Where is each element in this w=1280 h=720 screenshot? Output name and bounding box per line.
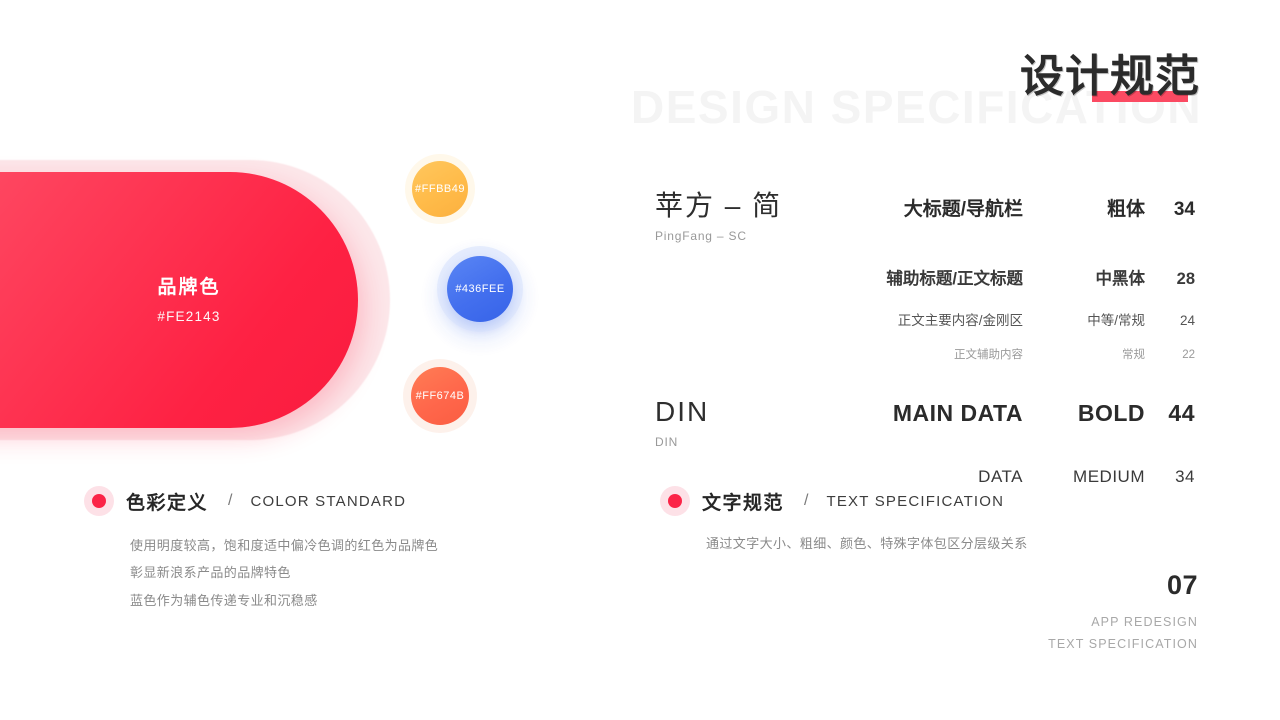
slide-canvas: DESIGN SPECIFICATION 设计规范 品牌色 #FE2143 #F… <box>0 0 1280 720</box>
type-usage: 正文辅助内容 <box>865 346 1049 362</box>
section-title-cn: 色彩定义 <box>126 488 208 515</box>
type-row: DIN DIN MAIN DATA BOLD 44 <box>655 396 1195 449</box>
section-separator: / <box>228 492 232 510</box>
bullet-dot-icon <box>84 486 114 516</box>
type-usage: MAIN DATA <box>865 400 1049 427</box>
swatch-blue: #436FEE <box>447 256 513 322</box>
brand-pill-label: 品牌色 <box>157 276 220 301</box>
body-line: 蓝色作为辅色传递专业和沉稳感 <box>130 587 554 614</box>
section-heading: 文字规范 / TEXT SPECIFICATION <box>660 486 1130 516</box>
font-family-subname: DIN <box>655 435 865 449</box>
section-text-specification: 文字规范 / TEXT SPECIFICATION 通过文字大小、粗细、颜色、特… <box>660 486 1130 557</box>
section-title-en: TEXT SPECIFICATION <box>826 493 1004 510</box>
section-body: 通过文字大小、粗细、颜色、特殊字体包区分层级关系 <box>660 530 1130 557</box>
footer-caption: APP REDESIGN TEXT SPECIFICATION <box>1048 612 1198 656</box>
page-number: 07 <box>1048 572 1198 599</box>
type-size: 44 <box>1145 400 1195 427</box>
type-weight: 中等/常规 <box>1049 309 1145 329</box>
type-weight: 中黑体 <box>1049 265 1145 289</box>
section-color-standard: 色彩定义 / COLOR STANDARD 使用明度较高，饱和度适中偏冷色调的红… <box>84 486 554 614</box>
section-title-en: COLOR STANDARD <box>250 493 406 510</box>
type-row: 苹方 – 简 PingFang – SC 大标题/导航栏 粗体 34 <box>655 190 1195 243</box>
body-line: 通过文字大小、粗细、颜色、特殊字体包区分层级关系 <box>706 530 1130 557</box>
type-row: DATA MEDIUM 34 <box>655 467 1195 487</box>
brand-pill-hex: #FE2143 <box>157 309 220 324</box>
bullet-inner-dot <box>668 494 682 508</box>
swatch-yellow: #FFBB49 <box>412 161 468 217</box>
font-family-block: 苹方 – 简 PingFang – SC <box>655 190 865 243</box>
type-size: 28 <box>1145 270 1195 289</box>
section-body: 使用明度较高，饱和度适中偏冷色调的红色为品牌色 彰显新浪系产品的品牌特色 蓝色作… <box>84 532 554 614</box>
type-row: 辅助标题/正文标题 中黑体 28 <box>655 265 1195 289</box>
bullet-inner-dot <box>92 494 106 508</box>
type-usage: 辅助标题/正文标题 <box>865 265 1049 289</box>
type-usage: 大标题/导航栏 <box>865 194 1049 221</box>
section-separator: / <box>804 492 808 510</box>
type-size: 24 <box>1145 313 1195 328</box>
font-family-subname: PingFang – SC <box>655 229 865 243</box>
footer-line-2: TEXT SPECIFICATION <box>1048 634 1198 656</box>
section-heading: 色彩定义 / COLOR STANDARD <box>84 486 554 516</box>
type-size: 34 <box>1145 467 1195 487</box>
font-family-name: 苹方 – 简 <box>655 190 865 222</box>
font-family-name: DIN <box>655 396 865 428</box>
body-line: 彰显新浪系产品的品牌特色 <box>130 559 554 586</box>
brand-color-pill: 品牌色 #FE2143 <box>0 172 358 428</box>
type-weight: 粗体 <box>1049 194 1145 221</box>
body-line: 使用明度较高，饱和度适中偏冷色调的红色为品牌色 <box>130 532 554 559</box>
font-family-block: DIN DIN <box>655 396 865 449</box>
type-size: 22 <box>1145 349 1195 361</box>
type-size: 34 <box>1145 199 1195 221</box>
page-title-text: 设计规范 <box>1020 53 1200 101</box>
slide-footer: 07 APP REDESIGN TEXT SPECIFICATION <box>1048 572 1198 656</box>
type-weight: MEDIUM <box>1049 467 1145 487</box>
type-weight: BOLD <box>1049 400 1145 427</box>
type-usage: 正文主要内容/金刚区 <box>865 309 1049 329</box>
type-usage: DATA <box>865 467 1049 487</box>
page-title: 设计规范 <box>1020 53 1200 109</box>
footer-line-1: APP REDESIGN <box>1048 612 1198 634</box>
type-weight: 常规 <box>1049 346 1145 362</box>
swatch-orange: #FF674B <box>411 367 469 425</box>
type-row: 正文辅助内容 常规 22 <box>655 346 1195 362</box>
bullet-dot-icon <box>660 486 690 516</box>
type-row: 正文主要内容/金刚区 中等/常规 24 <box>655 309 1195 329</box>
typography-spec-table: 苹方 – 简 PingFang – SC 大标题/导航栏 粗体 34 辅助标题/… <box>655 190 1195 487</box>
section-title-cn: 文字规范 <box>702 488 784 515</box>
